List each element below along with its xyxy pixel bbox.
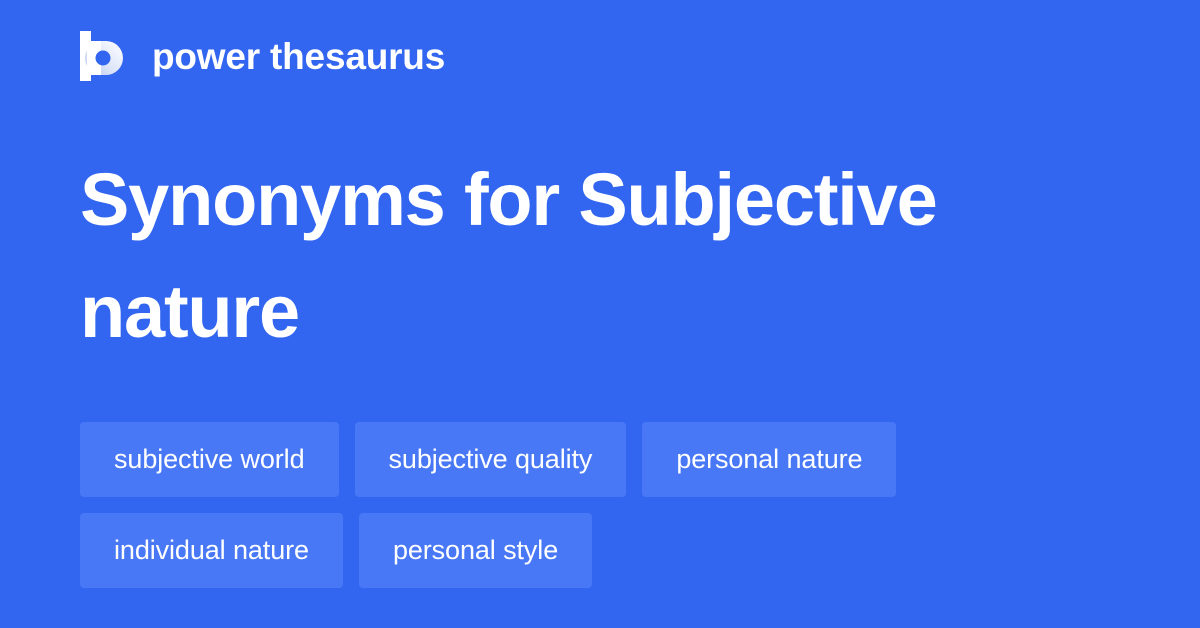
- synonym-chip-list: subjective world subjective quality pers…: [80, 422, 1110, 588]
- brand-header[interactable]: power thesaurus: [80, 30, 445, 82]
- synonym-chip[interactable]: subjective quality: [355, 422, 627, 497]
- brand-name: power thesaurus: [152, 38, 445, 75]
- power-thesaurus-logo-icon: [80, 31, 128, 81]
- synonym-chip[interactable]: personal nature: [642, 422, 896, 497]
- synonym-chip[interactable]: personal style: [359, 513, 592, 588]
- synonym-chip[interactable]: individual nature: [80, 513, 343, 588]
- page-title: Synonyms for Subjective nature: [80, 144, 1090, 369]
- synonym-chip[interactable]: subjective world: [80, 422, 339, 497]
